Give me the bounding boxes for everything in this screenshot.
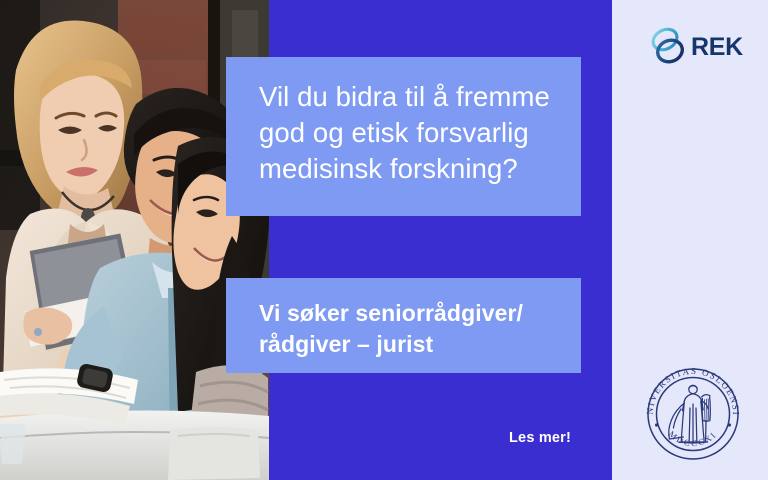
recruitment-banner: Vil du bidra til å fremme god og etisk f… [0, 0, 768, 480]
headline-text: Vil du bidra til å fremme god og etisk f… [259, 79, 553, 187]
rek-rings-icon [650, 26, 690, 68]
job-title-text: Vi søker seniorrådgiver/ rådgiver – juri… [259, 298, 557, 360]
rek-logo[interactable]: REK [650, 26, 742, 68]
seal-outer-text: UNIVERSITAS OSLOENSIS [641, 362, 741, 416]
read-more-link[interactable]: Les mer! [509, 430, 571, 446]
rek-wordmark: REK [691, 35, 743, 60]
uio-seal: UNIVERSITAS OSLOENSIS MDCCCXI [641, 362, 745, 466]
job-title-callout-box: Vi søker seniorrådgiver/ rådgiver – juri… [226, 278, 581, 373]
headline-callout-box: Vil du bidra til å fremme god og etisk f… [226, 57, 581, 216]
